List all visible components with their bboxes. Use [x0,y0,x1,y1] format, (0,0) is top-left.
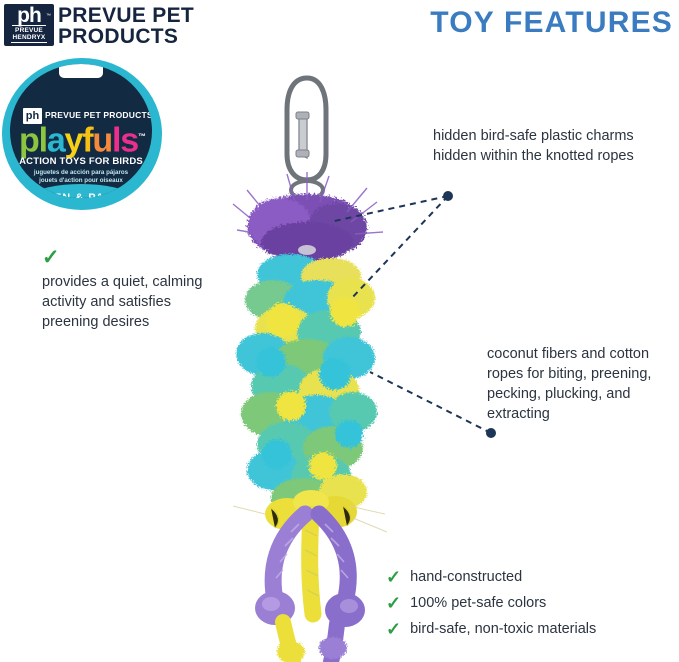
logo-tm-symbol: ™ [46,13,51,19]
check-icon: ✓ [386,620,401,639]
product-illustration [225,62,405,662]
callout-hidden-charms: hidden bird-safe plastic charms hidden w… [433,126,653,166]
list-item: ✓ hand-constructed [386,568,676,587]
badge-wordmark-letter-5: u [92,121,112,159]
carabiner-clip [287,78,326,180]
infographic-canvas: ph ™ PREVUE HENDRYX PREVUE PET PRODUCTS … [0,0,679,662]
badge-band-label: PREEN & PACIFY [10,192,152,198]
playfuls-badge: ph PREVUE PET PRODUCTS playfuls™ ACTION … [2,58,162,210]
badge-wordmark-letter-2: a [47,121,65,159]
list-item: ✓ 100% pet-safe colors [386,594,676,613]
callout-preening-activity-text: provides a quiet, calming activity and s… [42,272,220,332]
fiber-body [236,254,377,518]
badge-wordmark-letter-3: y [65,121,83,159]
callout-preening-activity: ✓ provides a quiet, calming activity and… [42,248,220,332]
page-title: TOY FEATURES [430,6,673,40]
charms-anchor-dot [443,191,453,201]
fibers-anchor-dot [486,428,496,438]
badge-wordmark-letter-4: f [82,121,92,159]
feature-check-list: ✓ hand-constructed ✓ 100% pet-safe color… [386,568,676,646]
badge-wordmark-letter-7: s [120,121,138,159]
logo-divider [12,25,46,27]
logo-subtext-hendryx: HENDRYX [13,34,46,41]
brand-name-text: PREVUE PET PRODUCTS [58,5,258,47]
check-label: 100% pet-safe colors [410,594,546,613]
check-label: bird-safe, non-toxic materials [410,620,596,639]
callout-coconut-fibers-text: coconut fibers and cotton ropes for biti… [487,344,679,424]
callout-hidden-charms-text: hidden bird-safe plastic charms hidden w… [433,126,653,166]
logo-mark-box: ph ™ PREVUE HENDRYX [4,4,54,46]
check-icon: ✓ [386,568,401,587]
badge-wordmark-tm: ™ [138,132,145,141]
knotted-rope-loop [255,514,365,662]
check-label: hand-constructed [410,568,522,587]
check-icon: ✓ [386,594,401,613]
badge-tagline: ACTION TOYS FOR BIRDS [10,156,152,167]
badge-wordmark: playfuls™ [19,119,152,158]
product-image [225,62,405,662]
badge-face: ph PREVUE PET PRODUCTS playfuls™ ACTION … [10,64,152,198]
logo-ph-text: ph [17,7,41,24]
callout-coconut-fibers: coconut fibers and cotton ropes for biti… [487,344,679,424]
badge-alt-languages: juguetes de acción para pájaros jouets d… [10,169,152,185]
logo-subtext-prevue: PREVUE [15,27,43,34]
badge-hang-tab [59,64,103,78]
list-item: ✓ bird-safe, non-toxic materials [386,620,676,639]
logo-underline [11,42,47,43]
prevue-hendryx-logo: ph ™ PREVUE HENDRYX [4,4,54,46]
badge-wordmark-letter-1: l [39,121,47,159]
badge-wordmark-letter-6: l [112,121,120,159]
badge-wordmark-letter-0: p [19,121,39,159]
badge-alt-spanish: juguetes de acción para pájaros [10,169,152,177]
check-icon: ✓ [42,248,220,268]
